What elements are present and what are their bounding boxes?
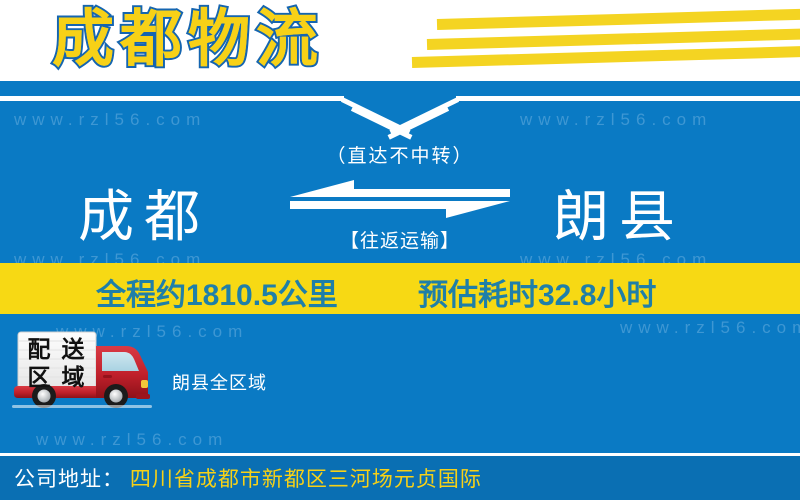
company-address: 公司地址： 四川省成都市新都区三河场元贞国际	[14, 463, 482, 493]
origin-city-label: 成都	[78, 172, 210, 253]
decorative-stripe-1	[437, 9, 800, 30]
chevron-line-left	[0, 96, 344, 101]
decorative-stripe-3	[412, 46, 800, 68]
watermark-6: www.rzl56.com	[620, 318, 800, 338]
total-distance-label: 全程约1810.5公里	[96, 270, 338, 314]
banner-header: 成都物流 成都物流	[0, 0, 800, 81]
bidirectional-arrow-icon	[286, 178, 514, 220]
logistics-banner: 成都物流 成都物流 www.rzl56.comwww.rzl56.comwww.…	[0, 0, 800, 500]
destination-city-label: 朗县	[553, 172, 685, 253]
delivery-truck-icon	[8, 328, 158, 408]
watermark-7: www.rzl56.com	[36, 430, 228, 450]
estimated-duration-label: 预估耗时32.8小时	[418, 270, 656, 314]
round-trip-note: 【往返运输】	[294, 226, 506, 253]
delivery-region-label: 朗县全区域	[172, 369, 267, 395]
address-label: 公司地址：	[14, 468, 124, 491]
watermark-1: www.rzl56.com	[14, 110, 206, 130]
direct-route-note: （直达不中转）	[294, 141, 506, 168]
address-value: 四川省成都市新都区三河场元贞国际	[130, 468, 482, 491]
chevron-line-right	[456, 96, 800, 101]
page-title: 成都物流	[52, 2, 324, 78]
watermark-2: www.rzl56.com	[520, 110, 712, 130]
